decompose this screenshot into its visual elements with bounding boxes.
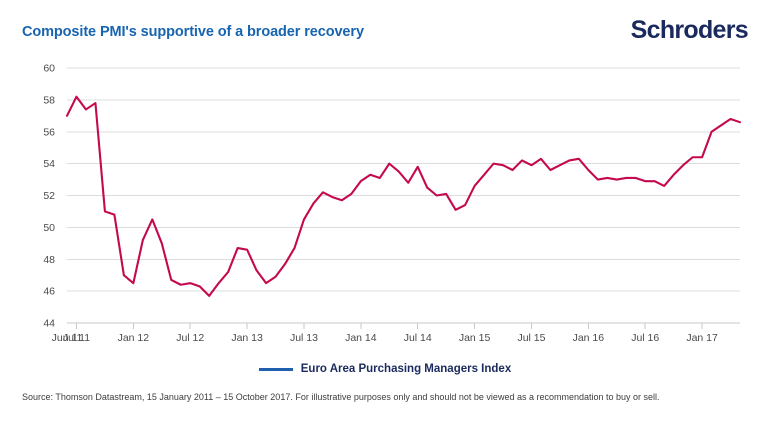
chart-header: Composite PMI's supportive of a broader … (0, 0, 770, 56)
x-axis-tick-label: Jul 12 (176, 332, 204, 344)
y-axis-tick-label: 52 (43, 190, 55, 202)
x-axis-tick-label: Jan 15 (459, 332, 491, 344)
legend-series-label: Euro Area Purchasing Managers Index (301, 363, 511, 375)
x-axis-tick-label: Jul 15 (517, 332, 545, 344)
y-axis-tick-label: 50 (43, 222, 55, 234)
y-axis-tick-label: 48 (43, 254, 55, 266)
legend-line-swatch (259, 368, 293, 371)
y-axis-tick-label: 46 (43, 286, 55, 298)
y-axis-tick-label: 54 (43, 158, 55, 170)
x-axis-tick-label: Jul 11 (63, 332, 90, 344)
y-axis-tick-label: 60 (43, 63, 55, 75)
x-axis-tick-label: Jul 13 (290, 332, 318, 344)
chart-plot-area: 444648505254565860 Jun 11Jul 11Jan 12Jul… (0, 56, 770, 346)
x-axis-tick-label: Jan 12 (118, 332, 150, 344)
x-axis-tick-label: Jan 16 (573, 332, 605, 344)
x-axis-tick-label: Jan 13 (231, 332, 263, 344)
schroders-logo: Schroders (631, 16, 748, 45)
y-axis-tick-label: 58 (43, 94, 55, 106)
source-note: Source: Thomson Datastream, 15 January 2… (22, 392, 660, 402)
gridlines (67, 68, 740, 323)
x-axis-ticks (76, 323, 702, 329)
pmi-series-line (67, 97, 740, 296)
y-axis-labels: 444648505254565860 (43, 63, 55, 330)
x-axis-labels: Jun 11Jul 11Jan 12Jul 12Jan 13Jul 13Jan … (52, 332, 718, 344)
x-axis-tick-label: Jul 14 (404, 332, 432, 344)
y-axis-tick-label: 56 (43, 126, 55, 138)
line-chart: 444648505254565860 Jun 11Jul 11Jan 12Jul… (0, 56, 770, 346)
chart-footer: Source: Thomson Datastream, 15 January 2… (0, 392, 770, 422)
x-axis-tick-label: Jul 16 (631, 332, 659, 344)
x-axis-tick-label: Jan 14 (345, 332, 377, 344)
page-title: Composite PMI's supportive of a broader … (22, 24, 364, 40)
y-axis-tick-label: 44 (43, 318, 55, 330)
x-axis-tick-label: Jan 17 (686, 332, 718, 344)
chart-legend: Euro Area Purchasing Managers Index (0, 359, 770, 379)
